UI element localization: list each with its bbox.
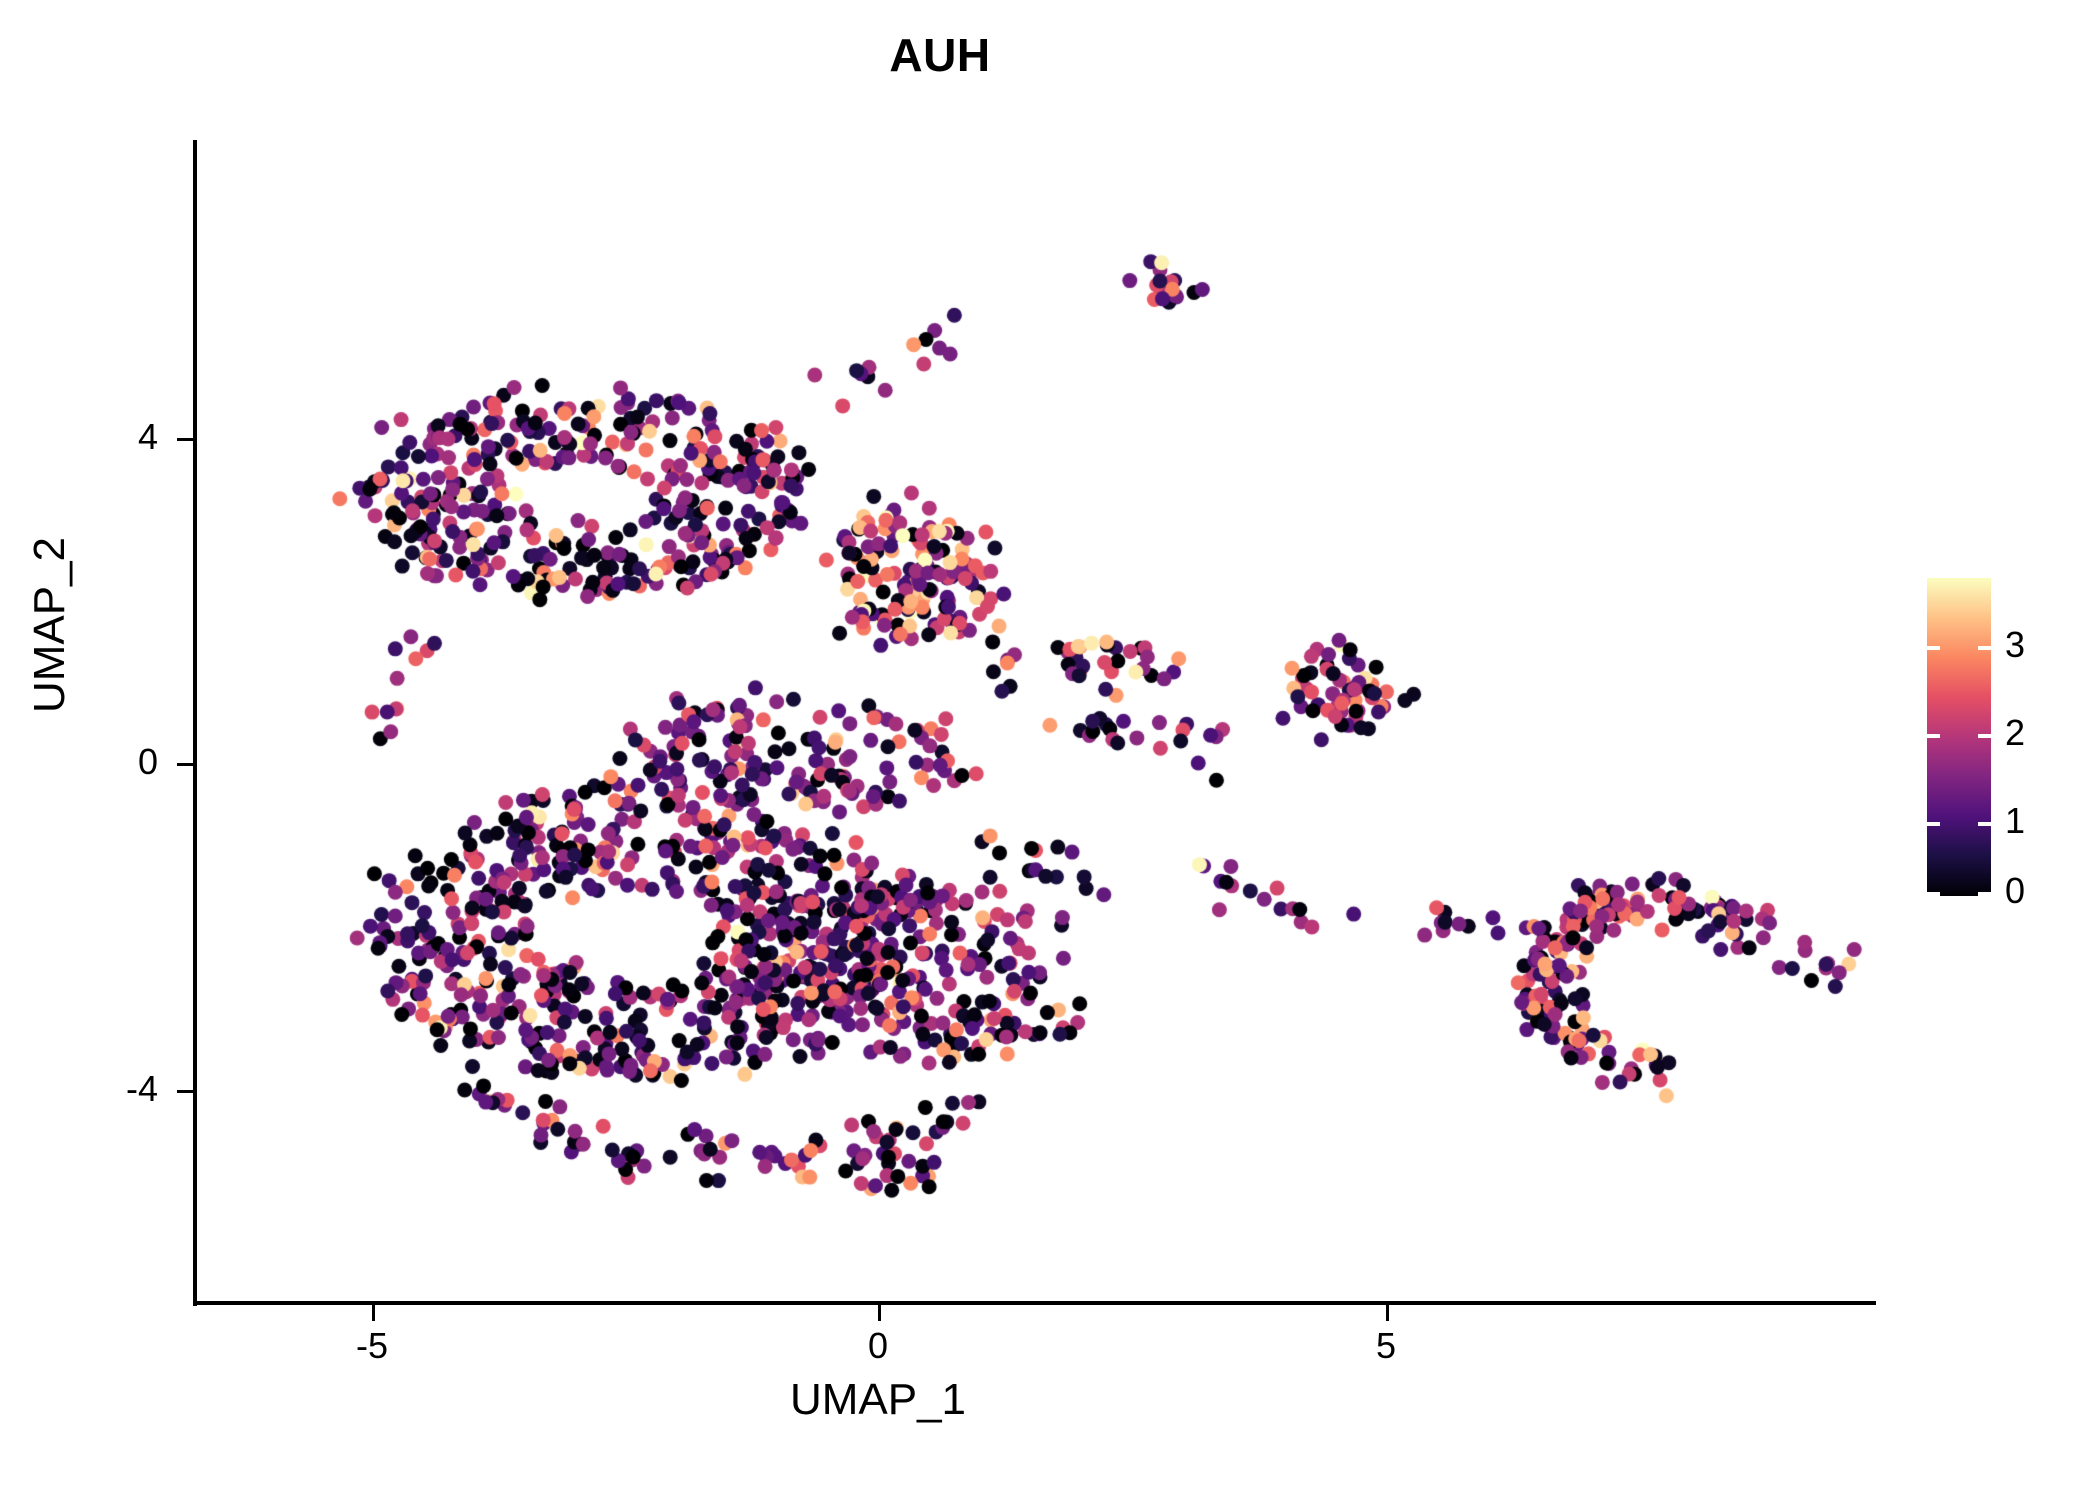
y-tick-mark xyxy=(177,1090,193,1093)
colorbar-tick-label: 1 xyxy=(2005,800,2025,842)
x-axis-line xyxy=(193,1301,1876,1305)
y-tick-mark xyxy=(177,438,193,441)
y-tick-label: 4 xyxy=(88,416,158,458)
x-tick-mark xyxy=(1386,1305,1389,1321)
scatter-points-canvas xyxy=(196,140,1876,1303)
y-axis-line xyxy=(193,140,197,1306)
colorbar-tick-mark xyxy=(1927,734,1940,738)
chart-root: AUH 4 0 -4 -5 0 5 UMAP_2 UMAP_1 xyxy=(0,0,2100,1500)
scatter-panel xyxy=(196,140,1876,1303)
colorbar-legend: 3 2 1 0 xyxy=(1927,578,1991,896)
colorbar-tick-mark xyxy=(1978,892,1991,896)
colorbar-tick-mark xyxy=(1927,646,1940,650)
x-tick-mark xyxy=(878,1305,881,1321)
colorbar-tick-mark xyxy=(1978,822,1991,826)
x-tick-label: -5 xyxy=(332,1325,412,1367)
y-axis-title: UMAP_2 xyxy=(25,425,75,825)
colorbar-tick-mark xyxy=(1978,734,1991,738)
colorbar-tick-label: 3 xyxy=(2005,624,2025,666)
y-tick-mark xyxy=(177,763,193,766)
colorbar-tick-mark xyxy=(1978,646,1991,650)
colorbar-tick-label: 0 xyxy=(2005,870,2025,912)
x-tick-mark xyxy=(372,1305,375,1321)
plot-area: 4 0 -4 -5 0 5 UMAP_2 UMAP_1 3 2 1 0 xyxy=(0,0,2100,1500)
colorbar-tick-mark xyxy=(1927,892,1940,896)
colorbar-tick-mark xyxy=(1927,822,1940,826)
colorbar-tick-label: 2 xyxy=(2005,712,2025,754)
x-tick-label: 0 xyxy=(838,1325,918,1367)
y-tick-label: -4 xyxy=(88,1068,158,1110)
x-axis-title: UMAP_1 xyxy=(478,1375,1278,1425)
x-tick-label: 5 xyxy=(1346,1325,1426,1367)
y-tick-label: 0 xyxy=(88,741,158,783)
